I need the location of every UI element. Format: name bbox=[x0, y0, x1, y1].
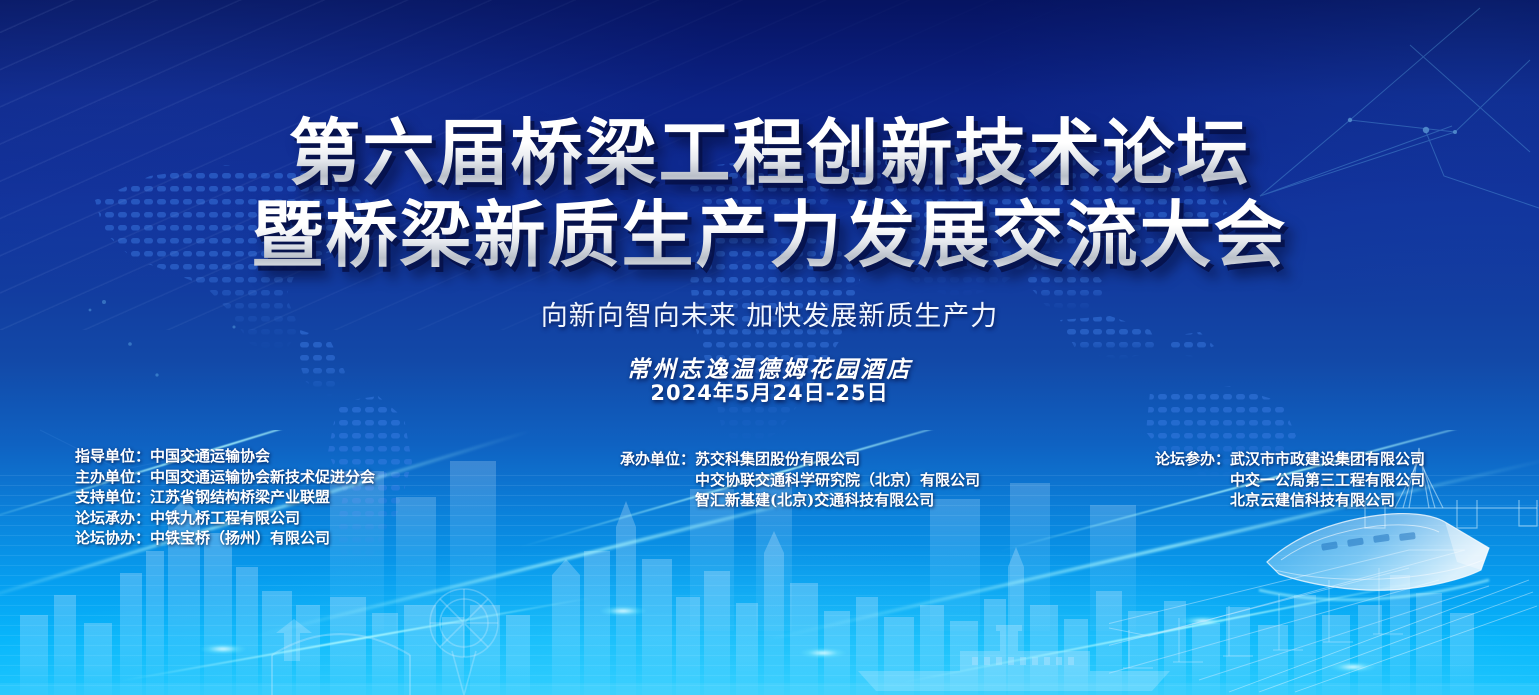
credit-value: 中铁九桥工程有限公司 bbox=[150, 508, 300, 529]
credit-label: 支持单位： bbox=[75, 487, 150, 508]
credit-value: 北京云建信科技有限公司 bbox=[1230, 490, 1395, 511]
event-date-text: 2024年5月24日-25日 bbox=[0, 377, 1539, 407]
credit-row: 论坛参办：北京云建信科技有限公司 bbox=[1155, 490, 1425, 511]
credit-value: 中国交通运输协会 bbox=[150, 446, 270, 467]
credit-row: 承办单位：苏交科集团股份有限公司 bbox=[620, 449, 980, 470]
credit-value: 智汇新基建(北京)交通科技有限公司 bbox=[695, 490, 934, 511]
credit-row: 支持单位：江苏省钢结构桥梁产业联盟 bbox=[75, 487, 375, 508]
credits-column-right: 论坛参办：武汉市市政建设集团有限公司论坛参办：中交一公局第三工程有限公司论坛参办… bbox=[1155, 449, 1425, 511]
credit-label: 主办单位： bbox=[75, 467, 150, 488]
credits-column-left: 指导单位：中国交通运输协会主办单位：中国交通运输协会新技术促进分会支持单位：江苏… bbox=[75, 446, 375, 549]
credit-row: 指导单位：中国交通运输协会 bbox=[75, 446, 375, 467]
credit-label: 论坛承办： bbox=[75, 508, 150, 529]
credit-value: 江苏省钢结构桥梁产业联盟 bbox=[150, 487, 330, 508]
credit-value: 苏交科集团股份有限公司 bbox=[695, 449, 860, 470]
credit-label: 论坛协办： bbox=[75, 528, 150, 549]
credit-value: 中交协联交通科学研究院（北京）有限公司 bbox=[695, 470, 980, 491]
credit-value: 武汉市市政建设集团有限公司 bbox=[1230, 449, 1425, 470]
title-line-1: 第六届桥梁工程创新技术论坛 bbox=[0, 112, 1539, 194]
credit-row: 主办单位：中国交通运输协会新技术促进分会 bbox=[75, 467, 375, 488]
credit-row: 论坛参办：武汉市市政建设集团有限公司 bbox=[1155, 449, 1425, 470]
slogan-text: 向新向智向未来 加快发展新质生产力 bbox=[0, 294, 1539, 333]
credit-row: 承办单位：智汇新基建(北京)交通科技有限公司 bbox=[620, 490, 980, 511]
conference-banner: 第六届桥梁工程创新技术论坛 暨桥梁新质生产力发展交流大会 向新向智向未来 加快发… bbox=[0, 0, 1539, 695]
credit-row: 承办单位：中交协联交通科学研究院（北京）有限公司 bbox=[620, 470, 980, 491]
credit-value: 中国交通运输协会新技术促进分会 bbox=[150, 467, 375, 488]
credit-row: 论坛参办：中交一公局第三工程有限公司 bbox=[1155, 470, 1425, 491]
credit-row: 论坛协办：中铁宝桥（扬州）有限公司 bbox=[75, 528, 375, 549]
credit-value: 中交一公局第三工程有限公司 bbox=[1230, 470, 1425, 491]
credit-label: 承办单位： bbox=[620, 449, 695, 470]
credit-row: 论坛承办：中铁九桥工程有限公司 bbox=[75, 508, 375, 529]
credits-section: 指导单位：中国交通运输协会主办单位：中国交通运输协会新技术促进分会支持单位：江苏… bbox=[0, 446, 1539, 566]
credits-column-middle: 承办单位：苏交科集团股份有限公司承办单位：中交协联交通科学研究院（北京）有限公司… bbox=[620, 449, 980, 511]
main-title: 第六届桥梁工程创新技术论坛 暨桥梁新质生产力发展交流大会 bbox=[0, 112, 1539, 276]
banner-content: 第六届桥梁工程创新技术论坛 暨桥梁新质生产力发展交流大会 向新向智向未来 加快发… bbox=[0, 0, 1539, 695]
title-line-2: 暨桥梁新质生产力发展交流大会 bbox=[0, 194, 1539, 276]
credit-label: 指导单位： bbox=[75, 446, 150, 467]
credit-label: 论坛参办： bbox=[1155, 449, 1230, 470]
credit-value: 中铁宝桥（扬州）有限公司 bbox=[150, 528, 330, 549]
